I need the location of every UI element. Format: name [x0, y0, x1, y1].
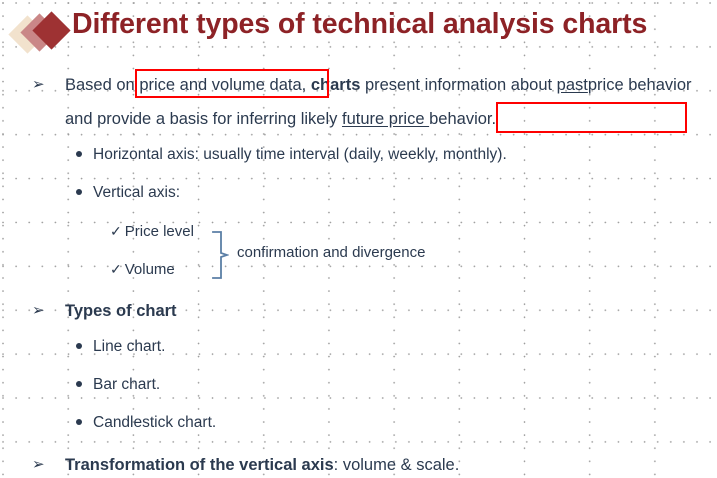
check-icon: ✓: [110, 258, 122, 280]
intro-text-1: Based on: [65, 76, 139, 94]
bullet-item-transformation: ➢ Transformation of the vertical axis: v…: [32, 448, 459, 478]
arrow-bullet-icon: ➢: [32, 68, 50, 102]
round-bullet-icon: [76, 151, 82, 157]
round-bullet-icon: [76, 189, 82, 195]
intro-text-2: present information about: [360, 76, 556, 94]
transformation-rest-text: : volume & scale.: [334, 456, 460, 474]
vertical-axis-text: Vertical axis:: [93, 184, 180, 201]
slide-canvas: Different types of technical analysis ch…: [0, 0, 717, 478]
bullet-item-types-of-chart: ➢ Types of chart: [32, 294, 177, 328]
transformation-paragraph: Transformation of the vertical axis: vol…: [65, 448, 459, 478]
price-level-text: Price level: [125, 223, 194, 240]
types-of-chart-heading: Types of chart: [65, 294, 177, 328]
check-item-volume: ✓Volume: [110, 258, 175, 281]
intro-paragraph: Based on price and volume data, charts p…: [65, 68, 692, 136]
arrow-bullet-icon: ➢: [32, 448, 50, 478]
slide-title-row: Different types of technical analysis ch…: [0, 8, 717, 56]
transformation-bold-text: Transformation of the vertical axis: [65, 456, 334, 474]
line-chart-text: Line chart.: [93, 338, 165, 355]
round-bullet-icon: [76, 381, 82, 387]
curly-brace-icon: [211, 231, 229, 279]
bullet-item-vertical-axis: Vertical axis:: [76, 182, 180, 204]
intro-bold-charts: charts: [311, 76, 361, 94]
bullet-item-bar-chart: Bar chart.: [76, 374, 160, 396]
bullet-item-intro: ➢ Based on price and volume data, charts…: [32, 68, 692, 136]
bullet-item-candlestick-chart: Candlestick chart.: [76, 412, 216, 434]
bar-chart-text: Bar chart.: [93, 376, 160, 393]
round-bullet-icon: [76, 419, 82, 425]
candlestick-chart-text: Candlestick chart.: [93, 414, 216, 431]
intro-underline-past: past: [557, 76, 588, 94]
brace-annotation-text: confirmation and divergence: [237, 244, 425, 261]
check-icon: ✓: [110, 220, 122, 242]
arrow-bullet-icon: ➢: [32, 294, 50, 328]
intro-underline-future-price: future price: [342, 110, 429, 128]
volume-text: Volume: [125, 261, 175, 278]
page-title: Different types of technical analysis ch…: [72, 8, 647, 41]
intro-text-4: behavior.: [429, 110, 496, 128]
check-item-price-level: ✓Price level: [110, 220, 194, 243]
round-bullet-icon: [76, 343, 82, 349]
horizontal-axis-text: Horizontal axis: usually time interval (…: [93, 146, 507, 163]
diamond-decoration-icon: [14, 14, 76, 54]
bullet-item-horizontal-axis: Horizontal axis: usually time interval (…: [76, 144, 507, 166]
bullet-item-line-chart: Line chart.: [76, 336, 165, 358]
intro-highlight-1: price and volume data,: [139, 76, 306, 94]
